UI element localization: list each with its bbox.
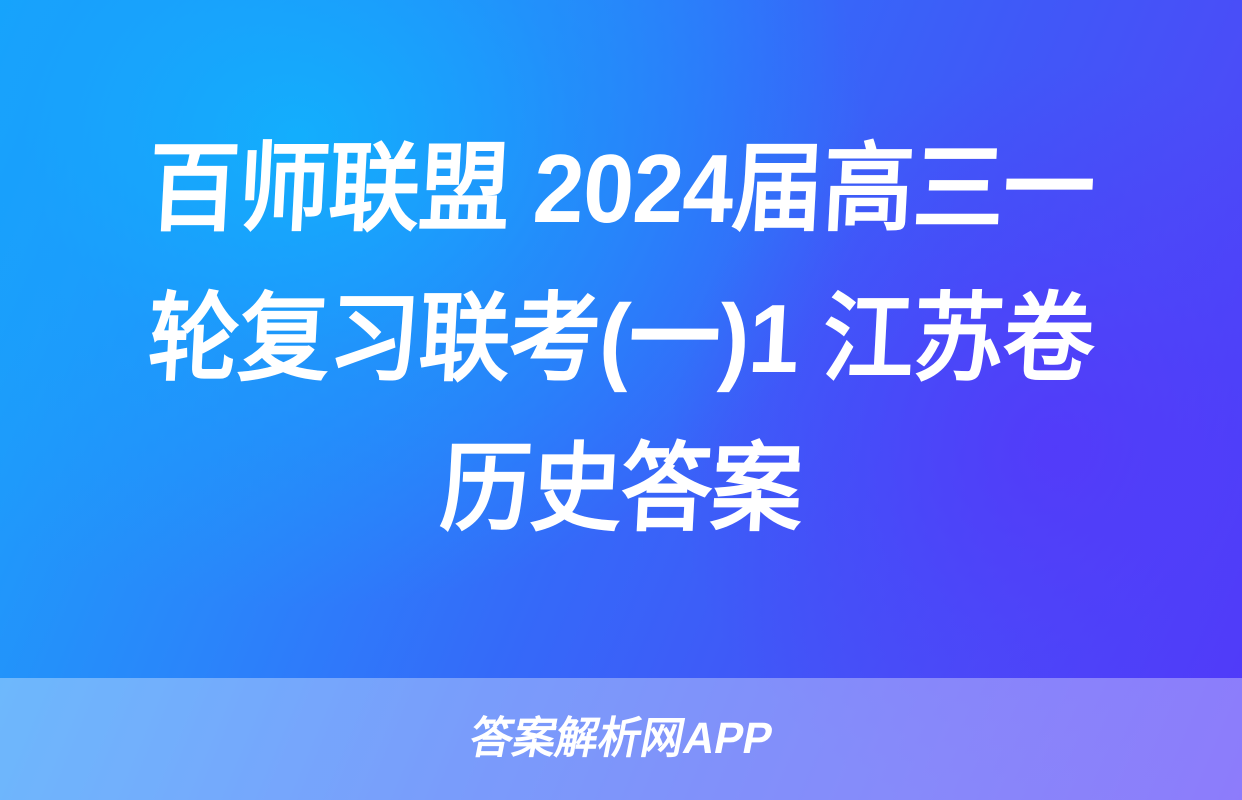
page-title-line-3: 历史答案 [92, 414, 1151, 564]
poster-canvas: 百师联盟 2024届高三一 轮复习联考(一)1 江苏卷 历史答案 答案解析网AP… [0, 0, 1242, 800]
watermark-brand-label: 答案解析网APP [466, 717, 776, 761]
poster-title-block: 百师联盟 2024届高三一 轮复习联考(一)1 江苏卷 历史答案 [0, 0, 1242, 678]
page-title-line-2: 轮复习联考(一)1 江苏卷 [92, 264, 1151, 414]
page-title-line-1: 百师联盟 2024届高三一 [92, 114, 1151, 264]
watermark-bar: 答案解析网APP [0, 678, 1242, 800]
